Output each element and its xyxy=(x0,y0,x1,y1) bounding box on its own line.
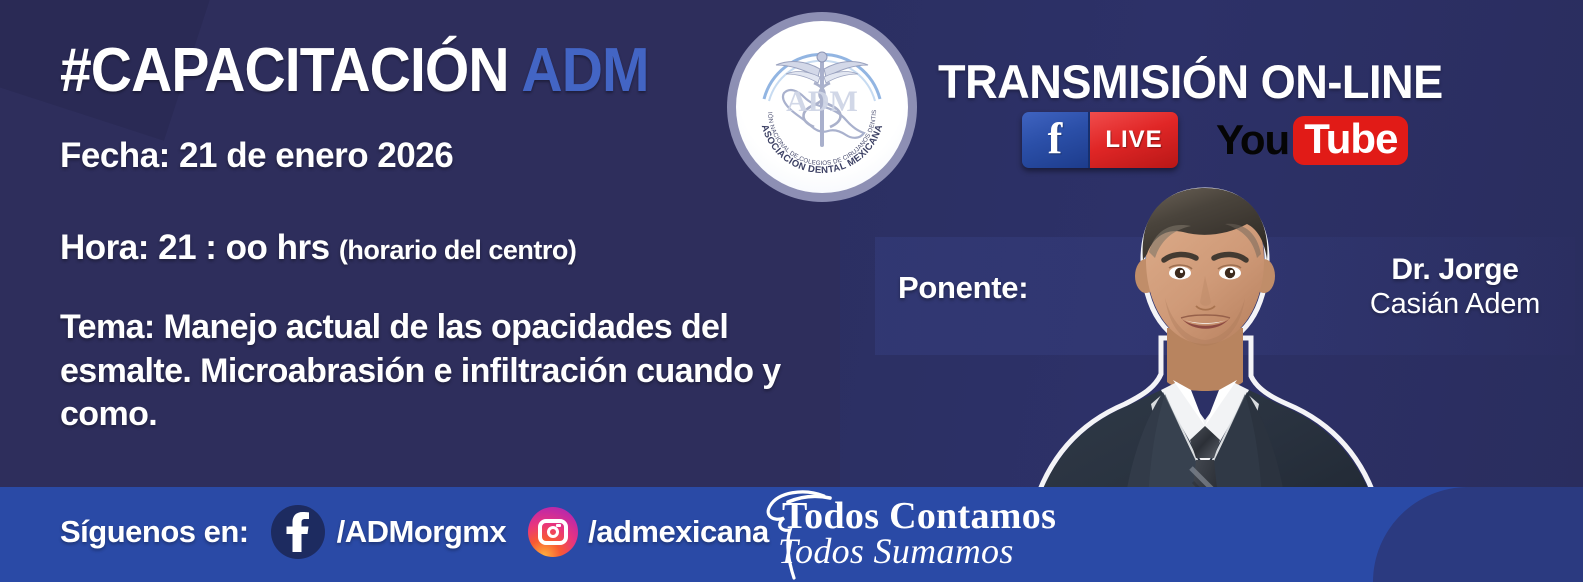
tagline-line2: Todos Sumamos xyxy=(778,530,1014,572)
speaker-label: Ponente: xyxy=(898,270,1028,306)
social-follow-bar: Síguenos en: /ADMorgmx /admexicana xyxy=(60,505,769,559)
instagram-camera-icon xyxy=(538,519,568,545)
event-banner: #CAPACITACIÓN ADM Fecha: 21 de enero 202… xyxy=(0,0,1583,582)
event-time: Hora: 21 : oo hrs (horario del centro) xyxy=(60,228,860,268)
page-title: #CAPACITACIÓN ADM xyxy=(60,40,796,102)
broadcast-title: TRANSMISIÓN ON-LINE xyxy=(938,54,1443,109)
adm-logo-seal: ADM ASOCIACIÓN DENTAL MEXICANA FEDERACIÓ… xyxy=(727,12,917,202)
speaker-name: Dr. Jorge Casián Adem xyxy=(1355,252,1555,322)
broadcast-platform-badges: f LIVE You Tube xyxy=(1022,112,1408,168)
facebook-icon: f xyxy=(1022,112,1090,168)
instagram-handle[interactable]: /admexicana xyxy=(588,514,769,550)
youtube-tube-text: Tube xyxy=(1293,116,1408,165)
seal-monogram: ADM xyxy=(786,85,858,118)
headline-accent: ADM xyxy=(521,36,648,105)
youtube-you-text: You xyxy=(1216,119,1289,161)
event-time-main: Hora: 21 : oo hrs xyxy=(60,228,330,267)
event-topic: Tema: Manejo actual de las opacidades de… xyxy=(60,306,820,437)
speaker-name-line2: Casián Adem xyxy=(1355,287,1555,321)
facebook-live-badge[interactable]: f LIVE xyxy=(1022,112,1178,168)
follow-label: Síguenos en: xyxy=(60,514,249,550)
facebook-handle[interactable]: /ADMorgmx xyxy=(337,514,506,550)
youtube-badge[interactable]: You Tube xyxy=(1216,112,1408,168)
speaker-name-line1: Dr. Jorge xyxy=(1355,252,1555,287)
tagline: Todos Contamos Todos Sumamos xyxy=(760,492,1060,582)
headline-main: #CAPACITACIÓN xyxy=(60,36,509,105)
event-time-note: (horario del centro) xyxy=(339,235,577,265)
facebook-f-glyph: f xyxy=(1048,117,1063,161)
facebook-icon-circle[interactable] xyxy=(271,505,325,559)
live-label-box: LIVE xyxy=(1090,112,1178,168)
instagram-icon-circle[interactable] xyxy=(528,507,578,557)
live-label: LIVE xyxy=(1105,126,1162,154)
seal-inner-disc: ADM ASOCIACIÓN DENTAL MEXICANA FEDERACIÓ… xyxy=(736,21,908,193)
seal-artwork-icon: ADM ASOCIACIÓN DENTAL MEXICANA FEDERACIÓ… xyxy=(736,21,908,193)
facebook-f-icon xyxy=(285,512,311,552)
